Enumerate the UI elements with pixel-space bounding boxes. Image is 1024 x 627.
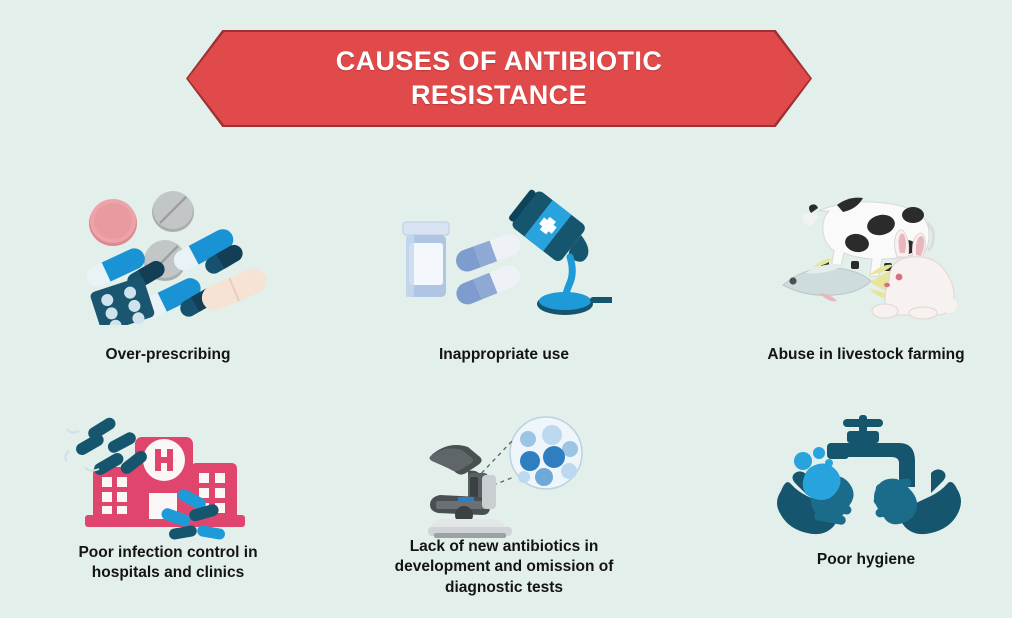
cause-label: Abuse in livestock farming xyxy=(706,345,1024,365)
cause-cell-poor-infection-control: Poor infection control in hospitals and … xyxy=(8,405,328,605)
specimen-circle xyxy=(510,417,582,489)
hospital-with-bacteria-icon xyxy=(63,415,273,540)
icon-container xyxy=(706,175,1024,325)
icon-container xyxy=(344,175,664,325)
infographic-canvas: CAUSES OF ANTIBIOTIC RESISTANCE xyxy=(0,0,1012,618)
cream-oval-pill xyxy=(198,265,268,315)
icon-container xyxy=(706,405,1024,540)
title-banner: CAUSES OF ANTIBIOTIC RESISTANCE xyxy=(186,30,812,127)
icon-container xyxy=(8,175,328,325)
hands-under-water xyxy=(873,469,961,534)
cause-label: Inappropriate use xyxy=(344,345,664,365)
washing-hands-with-soap xyxy=(777,447,854,534)
microscope xyxy=(428,445,512,538)
icon-container xyxy=(8,405,328,540)
cause-cell-inappropriate-use: Inappropriate use xyxy=(344,175,664,390)
icon-container xyxy=(344,405,664,540)
cause-cell-over-prescribing: Over-prescribing xyxy=(8,175,328,390)
page-title: CAUSES OF ANTIBIOTIC RESISTANCE xyxy=(186,30,812,127)
cause-label: Poor hygiene xyxy=(706,550,1024,570)
syrup-bottle-with-cross xyxy=(505,185,601,274)
rod-bacteria xyxy=(106,430,138,455)
cause-label: Poor infection control in hospitals and … xyxy=(8,543,328,584)
gray-scored-tablet xyxy=(152,191,194,232)
cause-label: Over-prescribing xyxy=(8,345,328,365)
pill-bottle xyxy=(403,222,449,297)
microscope-with-specimen-icon xyxy=(412,415,597,540)
handwashing-icon xyxy=(771,415,961,540)
pills-cluster-icon xyxy=(68,185,268,325)
cause-cell-poor-hygiene: Poor hygiene xyxy=(706,405,1024,605)
medicine-bottle-and-spoon-icon xyxy=(397,185,612,325)
cause-label: Lack of new antibiotics in development a… xyxy=(344,537,664,598)
pink-round-tablet xyxy=(89,199,137,246)
livestock-animals-icon xyxy=(761,175,971,325)
faucet xyxy=(827,415,915,487)
spoon xyxy=(537,292,612,315)
cause-cell-lack-of-new-antibiotics: Lack of new antibiotics in development a… xyxy=(344,405,664,605)
cause-cell-abuse-in-livestock-farming: Abuse in livestock farming xyxy=(706,175,1024,390)
